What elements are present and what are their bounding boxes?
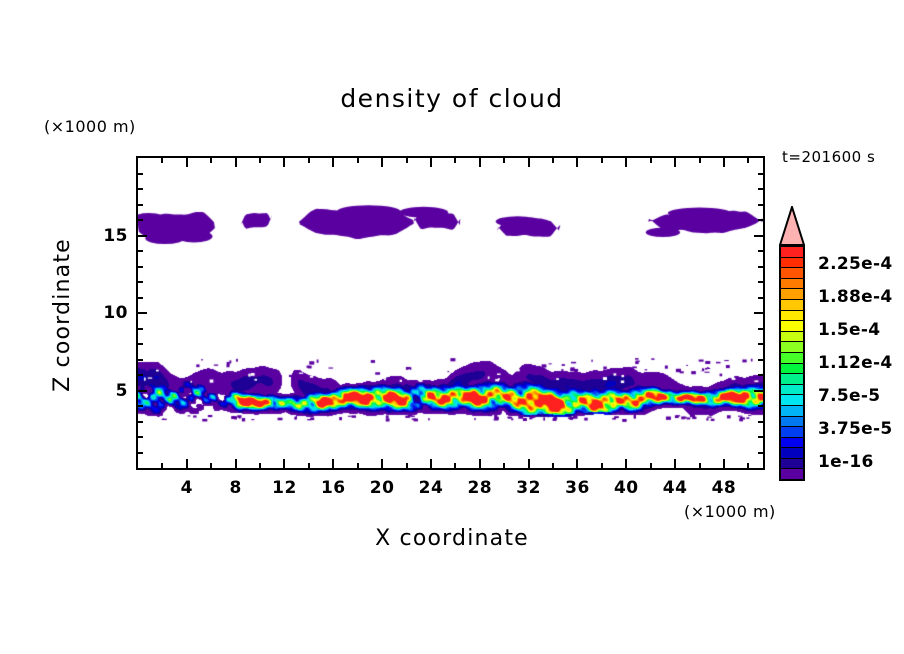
colorbar-cell — [781, 353, 803, 364]
x-tick-minor — [601, 463, 603, 468]
y-tick-minor-right — [758, 452, 763, 454]
x-tick-minor-top — [503, 158, 505, 163]
x-tick-minor-top — [161, 158, 163, 163]
y-tick-minor — [138, 359, 143, 361]
x-tick-minor-top — [357, 158, 359, 163]
y-tick-minor-right — [758, 343, 763, 345]
x-tick-minor-top — [699, 158, 701, 163]
x-tick-minor-top — [601, 158, 603, 163]
x-tick-major — [674, 459, 676, 468]
colorbar-cell — [781, 279, 803, 290]
y-tick-minor — [138, 297, 143, 299]
x-tick-major — [186, 459, 188, 468]
y-tick-major-right — [754, 390, 763, 392]
colorbar-tick-label: 1.5e-4 — [818, 320, 880, 340]
figure-root: density of cloud (×1000 m) t=201600 s 48… — [0, 0, 904, 654]
colorbar-cell — [781, 438, 803, 449]
x-tick-minor — [357, 463, 359, 468]
x-tick-label: 28 — [467, 478, 492, 498]
y-tick-label: 5 — [88, 381, 128, 401]
y-tick-minor — [138, 266, 143, 268]
colorbar-cell — [781, 448, 803, 459]
x-tick-major — [479, 459, 481, 468]
y-tick-minor — [138, 250, 143, 252]
y-tick-minor-right — [758, 219, 763, 221]
y-tick-major — [138, 312, 147, 314]
colorbar-tick-label: 1.12e-4 — [818, 353, 892, 373]
y-tick-minor-right — [758, 188, 763, 190]
x-tick-label: 32 — [516, 478, 541, 498]
colorbar-cell — [781, 268, 803, 279]
x-tick-label: 44 — [663, 478, 688, 498]
x-tick-major-top — [235, 158, 237, 167]
y-tick-major-right — [754, 312, 763, 314]
x-tick-minor-top — [650, 158, 652, 163]
colorbar-cell — [781, 258, 803, 269]
x-tick-minor-top — [552, 158, 554, 163]
x-tick-major-top — [723, 158, 725, 167]
x-tick-major-top — [430, 158, 432, 167]
x-tick-minor — [210, 463, 212, 468]
x-tick-major — [332, 459, 334, 468]
y-tick-minor-right — [758, 359, 763, 361]
y-axis-title: Z coordinate — [50, 0, 80, 200]
x-tick-label: 40 — [614, 478, 639, 498]
y-axis-title-text: Z coordinate — [50, 200, 75, 430]
y-tick-major — [138, 390, 147, 392]
colorbar-cell — [781, 374, 803, 385]
x-tick-major-top — [332, 158, 334, 167]
colorbar-tick-label: 7.5e-5 — [818, 386, 880, 406]
x-tick-minor — [503, 463, 505, 468]
colorbar-cell — [781, 321, 803, 332]
y-tick-minor — [138, 188, 143, 190]
y-tick-minor-right — [758, 421, 763, 423]
y-tick-label: 15 — [88, 226, 128, 246]
x-tick-minor — [699, 463, 701, 468]
y-tick-minor-right — [758, 436, 763, 438]
x-tick-major-top — [576, 158, 578, 167]
x-tick-major — [576, 459, 578, 468]
x-tick-major — [283, 459, 285, 468]
colorbar-tick-label: 1e-16 — [818, 452, 874, 472]
y-tick-minor-right — [758, 250, 763, 252]
x-tick-label: 20 — [370, 478, 395, 498]
x-tick-minor — [259, 463, 261, 468]
x-tick-major-top — [479, 158, 481, 167]
x-tick-major — [625, 459, 627, 468]
y-tick-major — [138, 235, 147, 237]
x-tick-minor — [308, 463, 310, 468]
y-tick-minor — [138, 219, 143, 221]
colorbar-scale — [779, 245, 805, 481]
y-tick-label: 10 — [88, 303, 128, 323]
y-tick-minor-right — [758, 173, 763, 175]
colorbar: 2.25e-41.88e-41.5e-41.12e-47.5e-53.75e-5… — [778, 206, 900, 482]
y-tick-minor-right — [758, 297, 763, 299]
y-tick-major-right — [754, 235, 763, 237]
colorbar-cell — [781, 469, 803, 479]
y-tick-minor-right — [758, 204, 763, 206]
x-tick-minor-top — [259, 158, 261, 163]
y-tick-minor — [138, 452, 143, 454]
x-tick-major-top — [381, 158, 383, 167]
y-tick-minor — [138, 436, 143, 438]
x-tick-minor-top — [454, 158, 456, 163]
y-tick-minor-right — [758, 328, 763, 330]
x-tick-major-top — [625, 158, 627, 167]
colorbar-cell — [781, 364, 803, 375]
x-tick-major — [430, 459, 432, 468]
colorbar-tick-label: 2.25e-4 — [818, 254, 892, 274]
y-tick-minor — [138, 204, 143, 206]
x-tick-minor — [650, 463, 652, 468]
x-tick-minor — [747, 463, 749, 468]
x-tick-minor — [552, 463, 554, 468]
x-tick-major-top — [186, 158, 188, 167]
page-title: density of cloud — [0, 84, 904, 113]
y-tick-minor — [138, 405, 143, 407]
x-tick-label: 12 — [272, 478, 297, 498]
contour-field-canvas — [138, 158, 763, 468]
y-tick-minor — [138, 173, 143, 175]
y-tick-minor-right — [758, 405, 763, 407]
time-annotation: t=201600 s — [782, 148, 875, 166]
x-tick-label: 24 — [419, 478, 444, 498]
colorbar-cell — [781, 342, 803, 353]
colorbar-cell — [781, 459, 803, 470]
colorbar-cell — [781, 427, 803, 438]
x-axis-title: X coordinate — [0, 526, 904, 551]
x-tick-major-top — [528, 158, 530, 167]
colorbar-tick-label: 1.88e-4 — [818, 287, 892, 307]
x-tick-minor-top — [210, 158, 212, 163]
x-tick-minor-top — [308, 158, 310, 163]
x-tick-major — [528, 459, 530, 468]
x-tick-major — [381, 459, 383, 468]
colorbar-tick-label: 3.75e-5 — [818, 419, 892, 439]
y-tick-minor-right — [758, 374, 763, 376]
x-tick-label: 8 — [229, 478, 241, 498]
x-tick-label: 16 — [321, 478, 346, 498]
x-tick-major-top — [283, 158, 285, 167]
y-tick-minor-right — [758, 266, 763, 268]
colorbar-cell — [781, 300, 803, 311]
colorbar-cell — [781, 395, 803, 406]
y-tick-minor — [138, 374, 143, 376]
y-tick-minor — [138, 343, 143, 345]
colorbar-extend-arrow-icon — [779, 206, 805, 246]
plot-area — [136, 156, 765, 470]
y-tick-minor — [138, 328, 143, 330]
x-tick-minor — [454, 463, 456, 468]
x-tick-label: 36 — [565, 478, 590, 498]
x-tick-label: 48 — [712, 478, 737, 498]
x-axis-unit-label: (×1000 m) — [684, 502, 776, 521]
y-tick-minor — [138, 281, 143, 283]
y-tick-minor — [138, 421, 143, 423]
colorbar-cell — [781, 332, 803, 343]
x-tick-major-top — [674, 158, 676, 167]
colorbar-cell — [781, 385, 803, 396]
y-tick-minor-right — [758, 281, 763, 283]
x-tick-major — [235, 459, 237, 468]
colorbar-cell — [781, 417, 803, 428]
colorbar-cell — [781, 247, 803, 258]
colorbar-cell — [781, 406, 803, 417]
colorbar-cell — [781, 311, 803, 322]
x-tick-minor — [161, 463, 163, 468]
x-tick-major — [723, 459, 725, 468]
x-tick-minor-top — [406, 158, 408, 163]
x-tick-minor-top — [747, 158, 749, 163]
x-tick-label: 4 — [181, 478, 193, 498]
x-tick-minor — [406, 463, 408, 468]
colorbar-cell — [781, 289, 803, 300]
